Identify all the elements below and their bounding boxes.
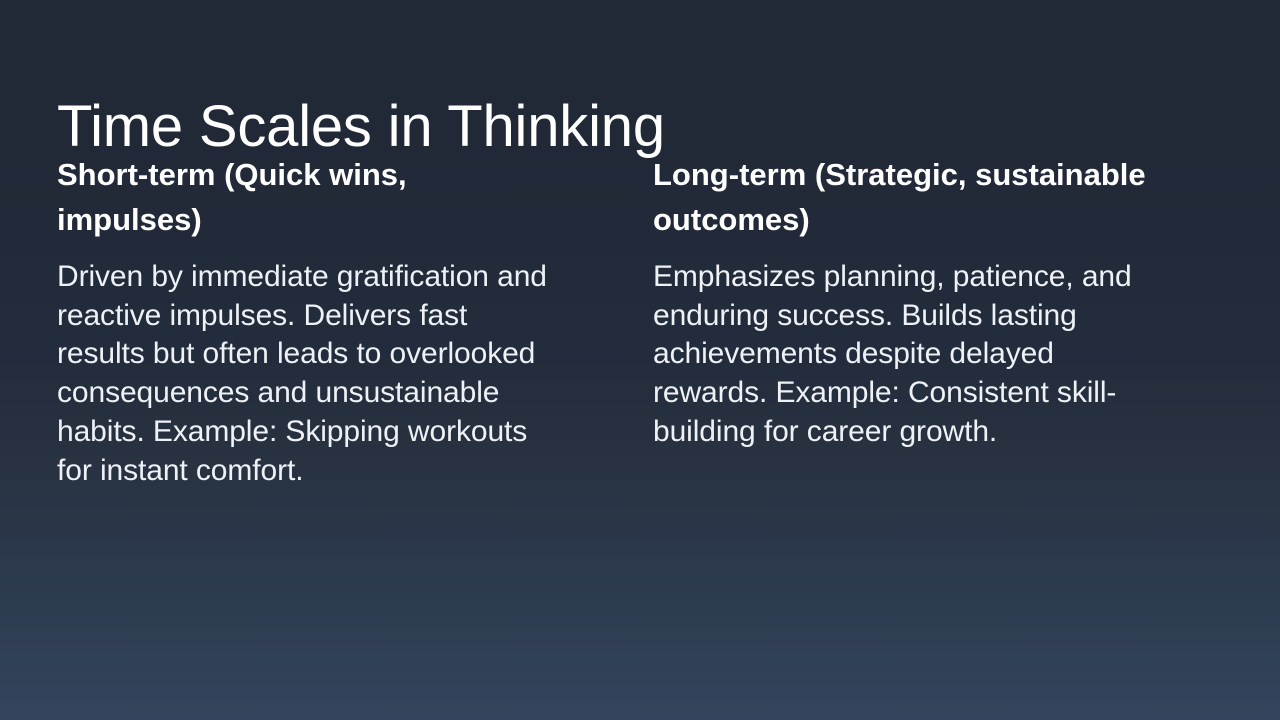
column-long-term-body: Emphasizes planning, patience, and endur… — [653, 258, 1145, 452]
column-short-term: Short-term (Quick wins, impulses) Driven… — [57, 152, 557, 490]
column-short-term-body: Driven by immediate gratification and re… — [57, 258, 557, 490]
presentation-slide: Time Scales in Thinking Short-term (Quic… — [0, 0, 1280, 720]
column-short-term-heading: Short-term (Quick wins, impulses) — [57, 152, 557, 242]
column-long-term-heading: Long-term (Strategic, sustainable outcom… — [653, 152, 1153, 242]
column-long-term: Long-term (Strategic, sustainable outcom… — [653, 152, 1153, 452]
comparison-columns: Short-term (Quick wins, impulses) Driven… — [57, 152, 1227, 490]
